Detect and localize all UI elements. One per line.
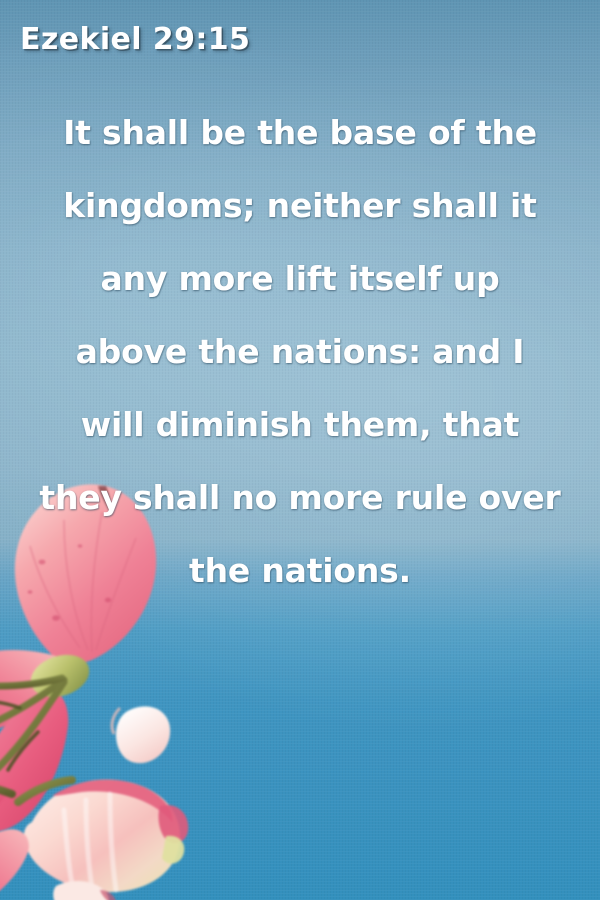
- verse-image-canvas: Ezekiel 29:15 It shall be the base of th…: [0, 0, 600, 900]
- verse-reference: Ezekiel 29:15: [20, 22, 250, 57]
- verse-line: It shall be the base of the: [14, 96, 586, 169]
- verse-line: the nations.: [14, 534, 586, 607]
- verse-text-block: It shall be the base of the kingdoms; ne…: [0, 96, 600, 607]
- verse-line: above the nations: and I: [14, 315, 586, 388]
- verse-line: kingdoms; neither shall it: [14, 169, 586, 242]
- verse-line: any more lift itself up: [14, 242, 586, 315]
- verse-line: will diminish them, that: [14, 388, 586, 461]
- verse-line: they shall no more rule over: [14, 461, 586, 534]
